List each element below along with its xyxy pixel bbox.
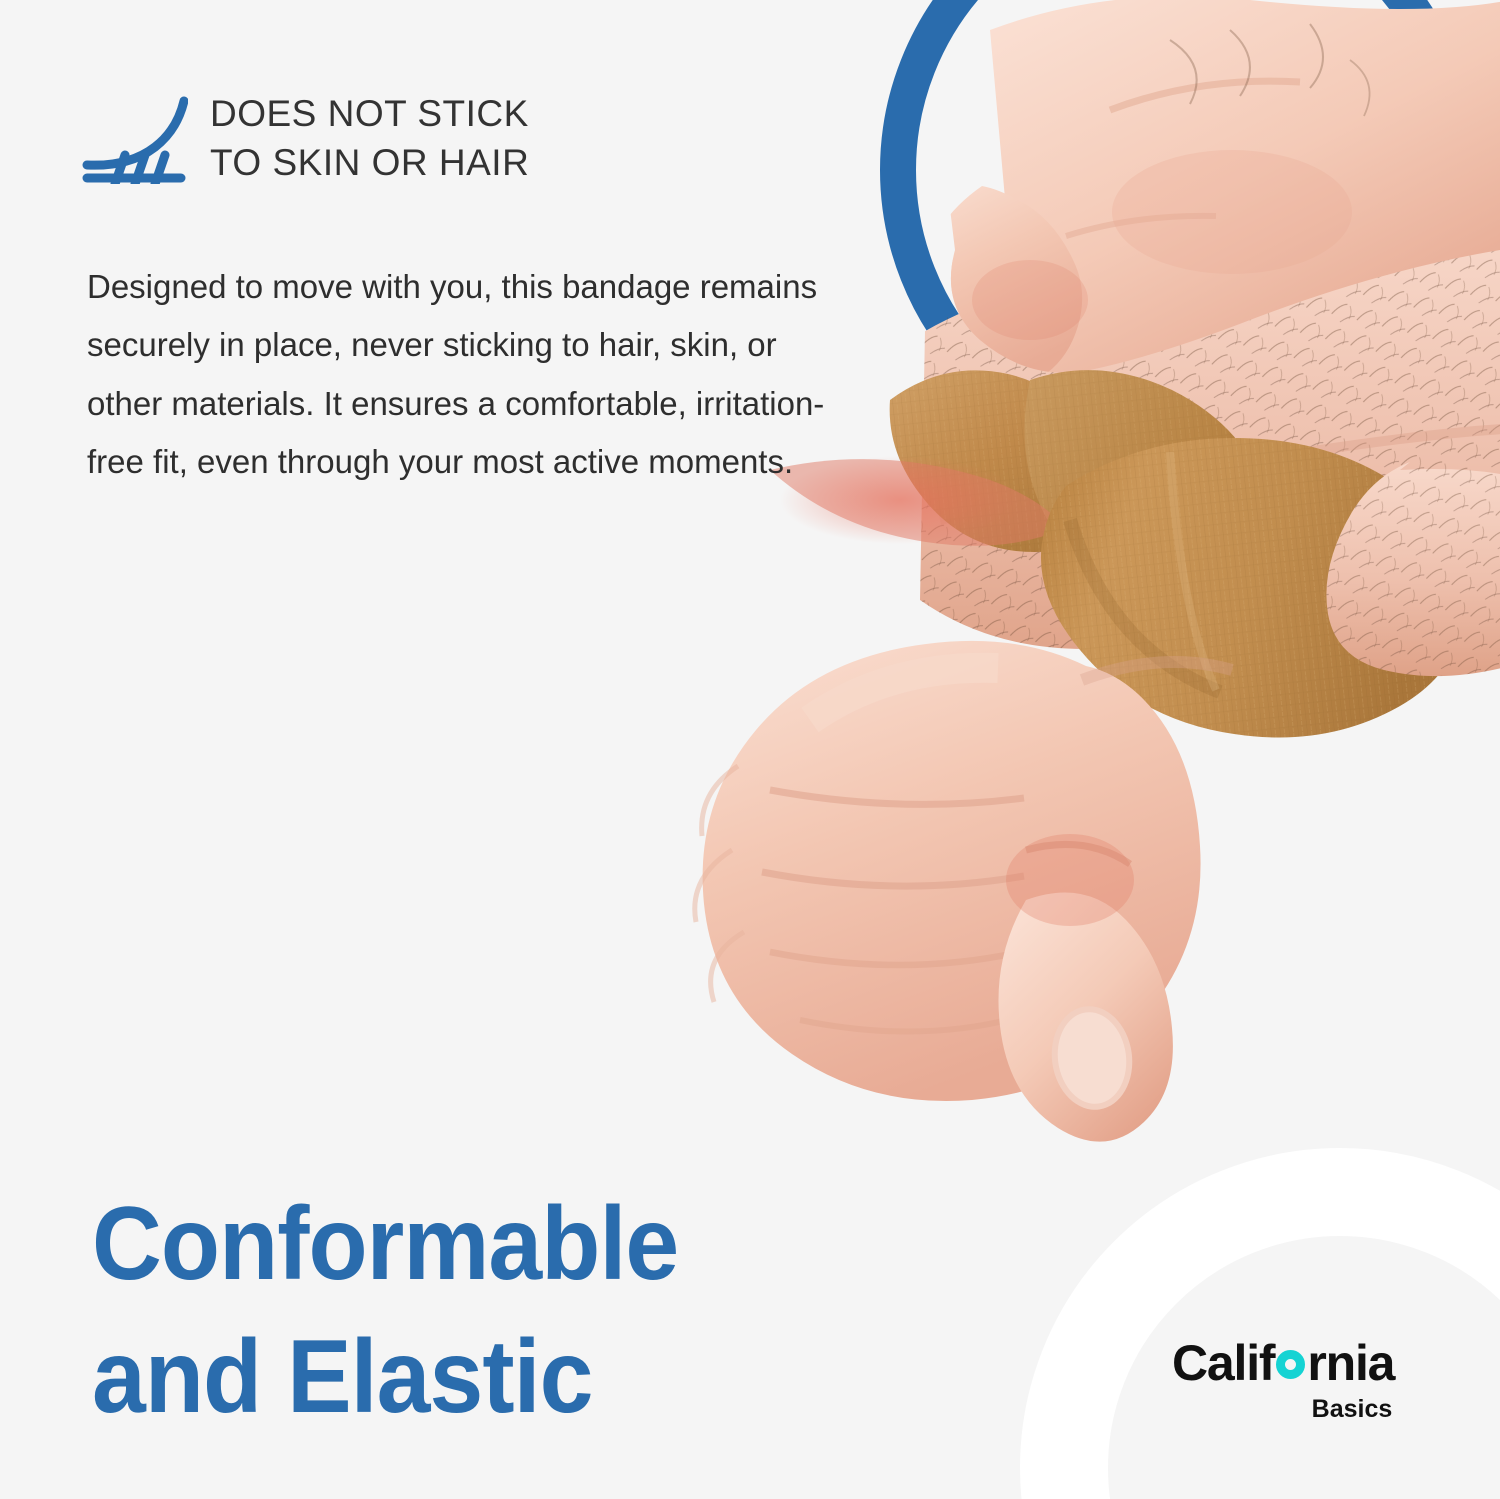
feature-heading-block: DOES NOT STICK TO SKIN OR HAIR	[80, 88, 700, 188]
brand-name: Calif rnia	[1172, 1338, 1394, 1388]
white-ring-decoration	[1020, 1148, 1500, 1499]
brand-name-part-one: Calif	[1172, 1338, 1274, 1388]
feature-title: DOES NOT STICK TO SKIN OR HAIR	[210, 88, 529, 188]
product-feature-card: DOES NOT STICK TO SKIN OR HAIR Designed …	[0, 0, 1500, 1499]
feature-description: Designed to move with you, this bandage …	[87, 258, 847, 492]
brand-subtitle: Basics	[1172, 1397, 1392, 1422]
brand-o-letter-icon	[1276, 1350, 1305, 1379]
brand-name-part-two: rnia	[1307, 1338, 1394, 1388]
page-headline: Conformable and Elastic	[92, 1178, 910, 1444]
bandage-over-hair-icon	[80, 92, 188, 184]
brand-logo: Calif rnia Basics	[1172, 1338, 1394, 1422]
